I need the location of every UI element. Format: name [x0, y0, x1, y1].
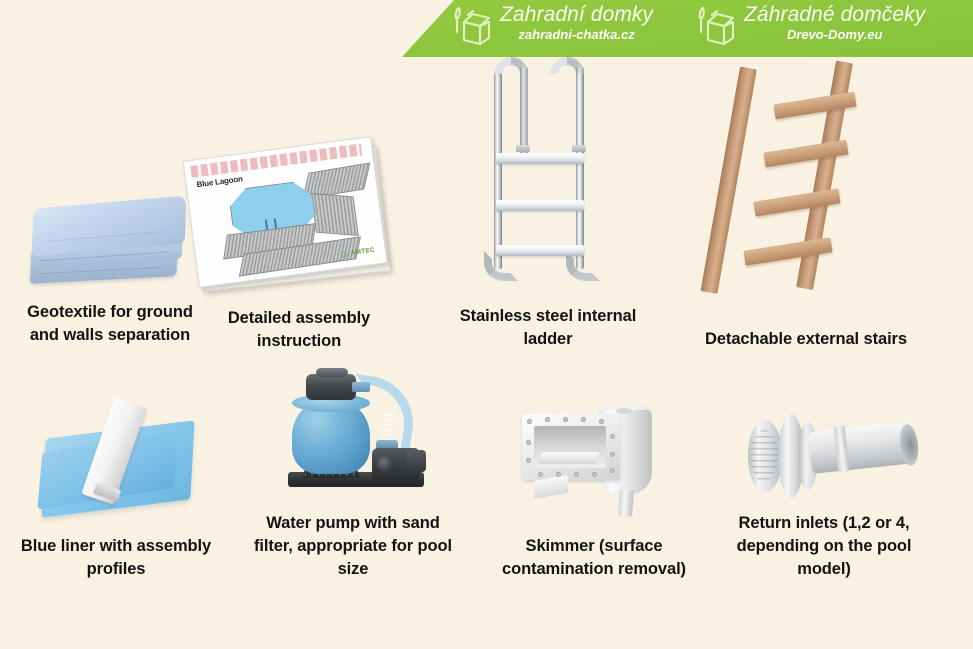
ladder-step — [496, 245, 584, 256]
caption-liner: Blue liner with assembly profiles — [10, 535, 222, 581]
stairs-step — [773, 92, 856, 120]
banner-subtitle-cz[interactable]: zahradni-chatka.cz — [518, 27, 634, 43]
banner-subtitle-sk[interactable]: Drevo-Domy.eu — [787, 27, 883, 43]
ladder-handrail-tip — [520, 67, 528, 155]
skimmer-outlet-pipe — [618, 490, 634, 517]
skimmer-image — [520, 400, 670, 518]
ladder-bracket — [516, 145, 530, 152]
caption-pump: Water pump with sand filter, appropriate… — [248, 512, 458, 581]
ladder-step — [496, 200, 584, 211]
stairs-step — [743, 237, 832, 266]
sheet-deck-drawing — [311, 193, 359, 236]
return-inlet-image — [744, 408, 924, 504]
stairs-step — [763, 140, 848, 168]
inlet-flange-ribbing — [750, 430, 778, 482]
sheet-title: Blue Lagoon — [196, 174, 243, 189]
wooden-stairs-image — [724, 62, 896, 302]
pump-inlet-port — [377, 456, 393, 472]
banner-title-cz: Zahradní domky — [500, 0, 653, 28]
ladder-rail-right — [576, 73, 584, 269]
multiport-valve — [306, 374, 356, 400]
caption-skimmer: Skimmer (surface contamination removal) — [490, 535, 698, 581]
banner-title-sk: Záhradné domčeky — [744, 0, 925, 28]
blue-liner-image — [37, 390, 199, 520]
caption-wood-stairs: Detachable external stairs — [686, 328, 926, 351]
ladder-bracket — [572, 145, 586, 152]
instruction-sheet-front: Blue Lagoon AMTEC — [182, 136, 387, 288]
caption-ss-ladder: Stainless steel internal ladder — [450, 305, 646, 351]
geotextile-image — [27, 196, 187, 294]
valve-handle — [316, 368, 348, 377]
assembly-instruction-image: Blue Lagoon AMTEC — [186, 146, 389, 288]
banner-group-sk[interactable]: Záhradné domčeky Drevo-Domy.eu — [694, 0, 925, 57]
caption-geotextile: Geotextile for ground and walls separati… — [12, 301, 208, 347]
skimmer-bolt-holes — [522, 414, 620, 480]
pump-motor — [406, 450, 426, 472]
water-pump-image — [272, 368, 432, 500]
stairs-step — [753, 188, 840, 216]
site-banner: Zahradní domky zahradni-chatka.cz Záhrad… — [402, 0, 973, 57]
house-sketch-icon — [450, 4, 496, 53]
banner-group-cz[interactable]: Zahradní domky zahradni-chatka.cz — [450, 0, 653, 57]
ladder-step — [496, 153, 584, 164]
valve-port — [352, 382, 370, 392]
house-sketch-icon — [694, 4, 740, 53]
caption-inlet: Return inlets (1,2 or 4, depending on th… — [724, 512, 924, 581]
caption-instruction: Detailed assembly instruction — [203, 307, 395, 353]
stainless-ladder-image — [478, 55, 608, 297]
ladder-rail-left — [494, 73, 502, 269]
